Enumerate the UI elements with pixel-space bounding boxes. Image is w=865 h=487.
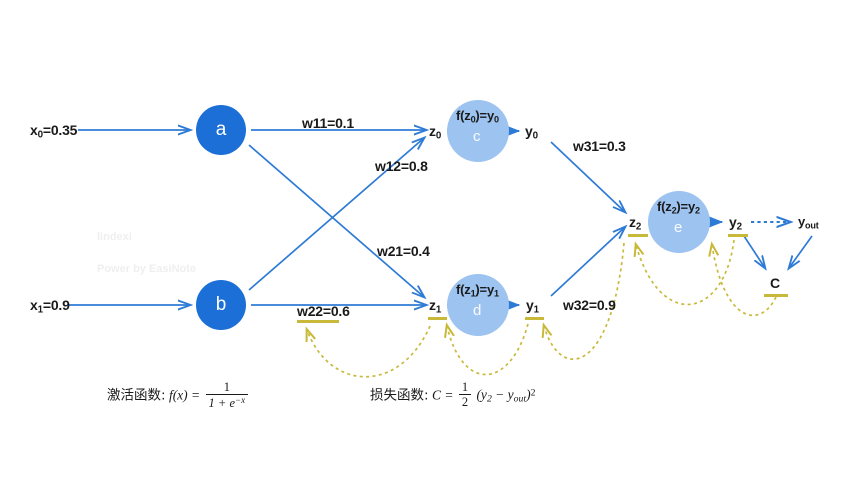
sigmoid-formula-f0: f(z0)=y0: [456, 108, 499, 125]
sigmoid-formula-f2: f(z2)=y2: [657, 199, 700, 216]
f0-fn: f(z: [456, 108, 471, 123]
watermark-line-1: lindexi: [97, 230, 196, 246]
loss-body-minus: − y: [492, 387, 514, 402]
f1-fn: f(z: [456, 282, 471, 297]
watermark: lindexi Power by EasiNote: [97, 214, 196, 294]
f2-y-sub: 2: [695, 206, 700, 216]
z1-symbol: z: [429, 297, 436, 313]
sigmoid-formula-f1: f(z1)=y1: [456, 282, 499, 299]
activation-function-formula: 激活函数: f(x) = 1 1 + e−x: [107, 382, 250, 411]
activation-denominator-base: 1 + e: [209, 396, 235, 410]
node-label-yout: yout: [798, 215, 819, 231]
input-label-x1: x1=0.9: [30, 298, 70, 316]
f1-y-sub: 1: [494, 289, 499, 299]
edge-y1-to-z2: [551, 227, 625, 296]
node-label-z1: z1: [429, 298, 441, 316]
loss-body: (y2 − yout): [476, 387, 530, 402]
activation-denominator-exp: −x: [235, 395, 245, 405]
node-label-cost: C: [770, 276, 780, 290]
gold-underline-z1: [428, 317, 447, 320]
neuron-a-label: a: [216, 119, 227, 141]
watermark-line-2: Power by EasiNote: [97, 262, 196, 278]
node-label-z0: z0: [429, 124, 441, 142]
sigmoid-inner-letter-f1: d: [473, 302, 481, 319]
input-x1-symbol: x: [30, 297, 38, 313]
neuron-a[interactable]: a: [196, 105, 246, 155]
f0-mid: )=y: [475, 108, 494, 123]
f2-mid: )=y: [676, 199, 695, 214]
y0-subscript: 0: [533, 131, 538, 142]
edge-y2-to-cost: [744, 236, 765, 268]
activation-fraction: 1 1 + e−x: [206, 381, 249, 410]
node-label-z2: z2: [629, 215, 641, 233]
backprop-arc-cost-to-y2: [712, 245, 776, 315]
input-x0-symbol: x: [30, 122, 38, 138]
node-label-y0: y0: [525, 124, 538, 142]
z0-symbol: z: [429, 123, 436, 139]
yout-symbol: y: [798, 214, 805, 229]
input-label-x0: x0=0.35: [30, 123, 77, 141]
loss-body-exp: 2: [531, 387, 536, 398]
y2-symbol: y: [729, 214, 737, 230]
z0-subscript: 0: [436, 131, 441, 142]
backprop-arc-z1-to-w22: [307, 326, 430, 377]
loss-body-sub2: out: [514, 394, 526, 405]
weight-label-w12: w12=0.8: [375, 159, 428, 173]
loss-fraction: 1 2: [459, 381, 471, 410]
weight-label-w22: w22=0.6: [297, 304, 350, 318]
z1-subscript: 1: [436, 305, 441, 316]
loss-body-open: (y: [476, 387, 487, 402]
gold-underline-y2: [728, 234, 748, 237]
activation-lhs: f(x) =: [169, 388, 200, 403]
gold-underline-cost: [764, 294, 788, 297]
loss-prefix: 损失函数:: [370, 387, 429, 403]
input-x1-value: =0.9: [43, 297, 70, 313]
node-label-y1: y1: [526, 298, 539, 316]
yout-subscript: out: [805, 221, 819, 231]
f1-mid: )=y: [475, 282, 494, 297]
edge-yout-to-cost: [789, 236, 812, 268]
weight-label-w32: w32=0.9: [563, 298, 616, 312]
y1-subscript: 1: [534, 305, 539, 316]
gold-underline-y1: [525, 317, 544, 320]
weight-label-w21: w21=0.4: [377, 244, 430, 258]
sigmoid-inner-letter-f0: c: [473, 128, 481, 145]
neuron-b[interactable]: b: [196, 280, 246, 330]
loss-lhs: C =: [432, 387, 454, 402]
f2-fn: f(z: [657, 199, 672, 214]
y1-symbol: y: [526, 297, 534, 313]
activation-prefix: 激活函数:: [107, 388, 166, 404]
z2-subscript: 2: [636, 222, 641, 233]
gold-underline-z2: [628, 234, 648, 237]
weight-label-w11: w11=0.1: [302, 116, 354, 130]
activation-denominator: 1 + e−x: [206, 394, 249, 410]
y0-symbol: y: [525, 123, 533, 139]
neural-network-diagram: yout (dotted blue) -->: [0, 0, 865, 487]
f0-y-sub: 0: [494, 115, 499, 125]
activation-numerator: 1: [206, 381, 249, 394]
z2-symbol: z: [629, 214, 636, 230]
gold-underline-w22: [297, 320, 339, 323]
node-label-y2: y2: [729, 215, 742, 233]
weight-label-w31: w31=0.3: [573, 139, 626, 153]
y2-subscript: 2: [737, 222, 742, 233]
loss-numerator: 1: [459, 381, 471, 394]
loss-function-formula: 损失函数: C = 1 2 (y2 − yout)2: [370, 382, 535, 411]
loss-denominator: 2: [459, 394, 471, 409]
sigmoid-inner-letter-f2: e: [674, 219, 682, 236]
neuron-b-label: b: [216, 294, 227, 316]
input-x0-value: =0.35: [43, 122, 77, 138]
